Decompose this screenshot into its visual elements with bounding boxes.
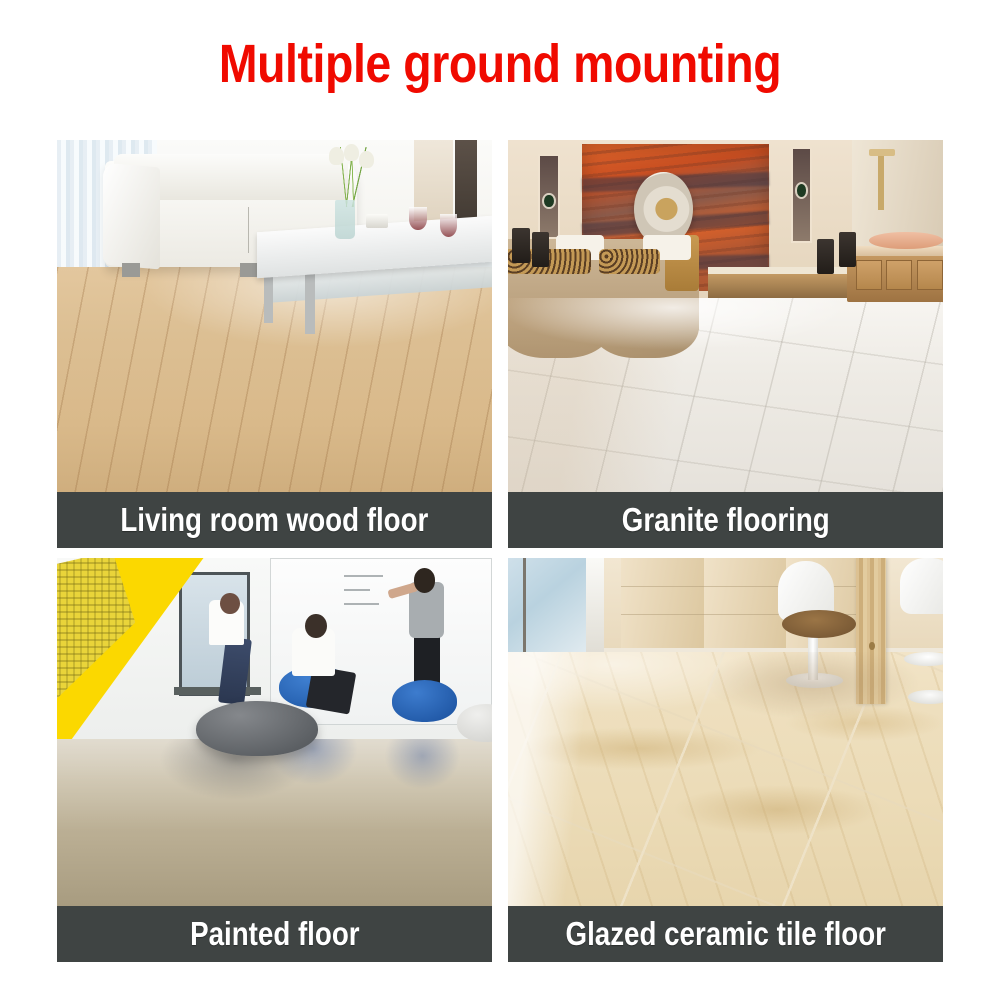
floor-reflection xyxy=(508,298,943,492)
animal-print-throw xyxy=(599,249,660,274)
wine-glass xyxy=(440,214,457,237)
person-standing-head xyxy=(414,568,436,592)
window-mullion xyxy=(523,558,526,662)
whiteboard-marking xyxy=(344,603,379,605)
person-on-pouf-head xyxy=(305,614,327,638)
photo-granite-flooring xyxy=(508,140,943,492)
sofa-armrest xyxy=(103,162,160,269)
console-drawer xyxy=(886,260,912,290)
gallery-item-glazed-ceramic-tile-floor[interactable]: Glazed ceramic tile floor xyxy=(508,558,943,962)
granite-step xyxy=(708,274,865,299)
person-seated-on-sill-head xyxy=(220,593,240,614)
lantern xyxy=(512,228,529,263)
wash-basin xyxy=(869,232,943,250)
shower-fixture xyxy=(878,151,885,211)
caption-label: Glazed ceramic tile floor xyxy=(565,917,885,951)
calla-lily-bloom xyxy=(359,151,374,169)
caption-label: Painted floor xyxy=(190,917,359,951)
window-sill xyxy=(174,687,261,696)
gray-pouf-ottoman xyxy=(196,701,318,757)
photo-painted-floor xyxy=(57,558,492,906)
sofa-foot xyxy=(122,263,139,277)
wall-panel xyxy=(621,558,705,652)
calla-lily-bloom xyxy=(344,144,359,162)
door-jamb xyxy=(586,558,603,662)
gallery-grid: Living room wood floor xyxy=(57,140,943,962)
niche-accent-dot xyxy=(795,182,809,199)
caption-bar: Painted floor xyxy=(57,906,492,962)
whiteboard-marking xyxy=(344,575,383,577)
gallery-item-living-room-wood-floor[interactable]: Living room wood floor xyxy=(57,140,492,548)
sliding-glass-door xyxy=(508,558,596,662)
floor-reflection xyxy=(57,739,492,906)
sofa-cushion-seam xyxy=(248,207,249,253)
lantern xyxy=(532,232,549,267)
tulip-chair-cushion xyxy=(782,610,856,638)
lantern xyxy=(839,232,856,267)
caption-label: Living room wood floor xyxy=(121,503,429,537)
photo-glazed-ceramic-tile-floor xyxy=(508,558,943,906)
gallery-item-granite-flooring[interactable]: Granite flooring xyxy=(508,140,943,548)
calla-lily-bloom xyxy=(329,147,344,165)
floor-reflection xyxy=(508,652,943,906)
caption-bar: Granite flooring xyxy=(508,492,943,548)
gallery-item-painted-floor[interactable]: Painted floor xyxy=(57,558,492,962)
caption-bar: Glazed ceramic tile floor xyxy=(508,906,943,962)
whiteboard-marking xyxy=(344,589,370,591)
glass-vase xyxy=(335,200,355,239)
caption-label: Granite flooring xyxy=(622,503,830,537)
console-drawer xyxy=(856,260,882,290)
lantern xyxy=(817,239,834,274)
wine-glass xyxy=(409,207,426,230)
console-drawer xyxy=(917,260,943,290)
blue-pouf-ottoman xyxy=(392,680,457,722)
sofa-foot xyxy=(240,263,257,277)
ceramic-cup xyxy=(366,214,388,228)
wall-panel xyxy=(704,558,788,652)
caption-bar: Living room wood floor xyxy=(57,492,492,548)
tulip-chair-shell xyxy=(900,558,944,614)
shower-head-icon xyxy=(869,149,895,156)
page-title: Multiple ground mounting xyxy=(70,36,930,92)
photo-living-room-wood-floor xyxy=(57,140,492,492)
